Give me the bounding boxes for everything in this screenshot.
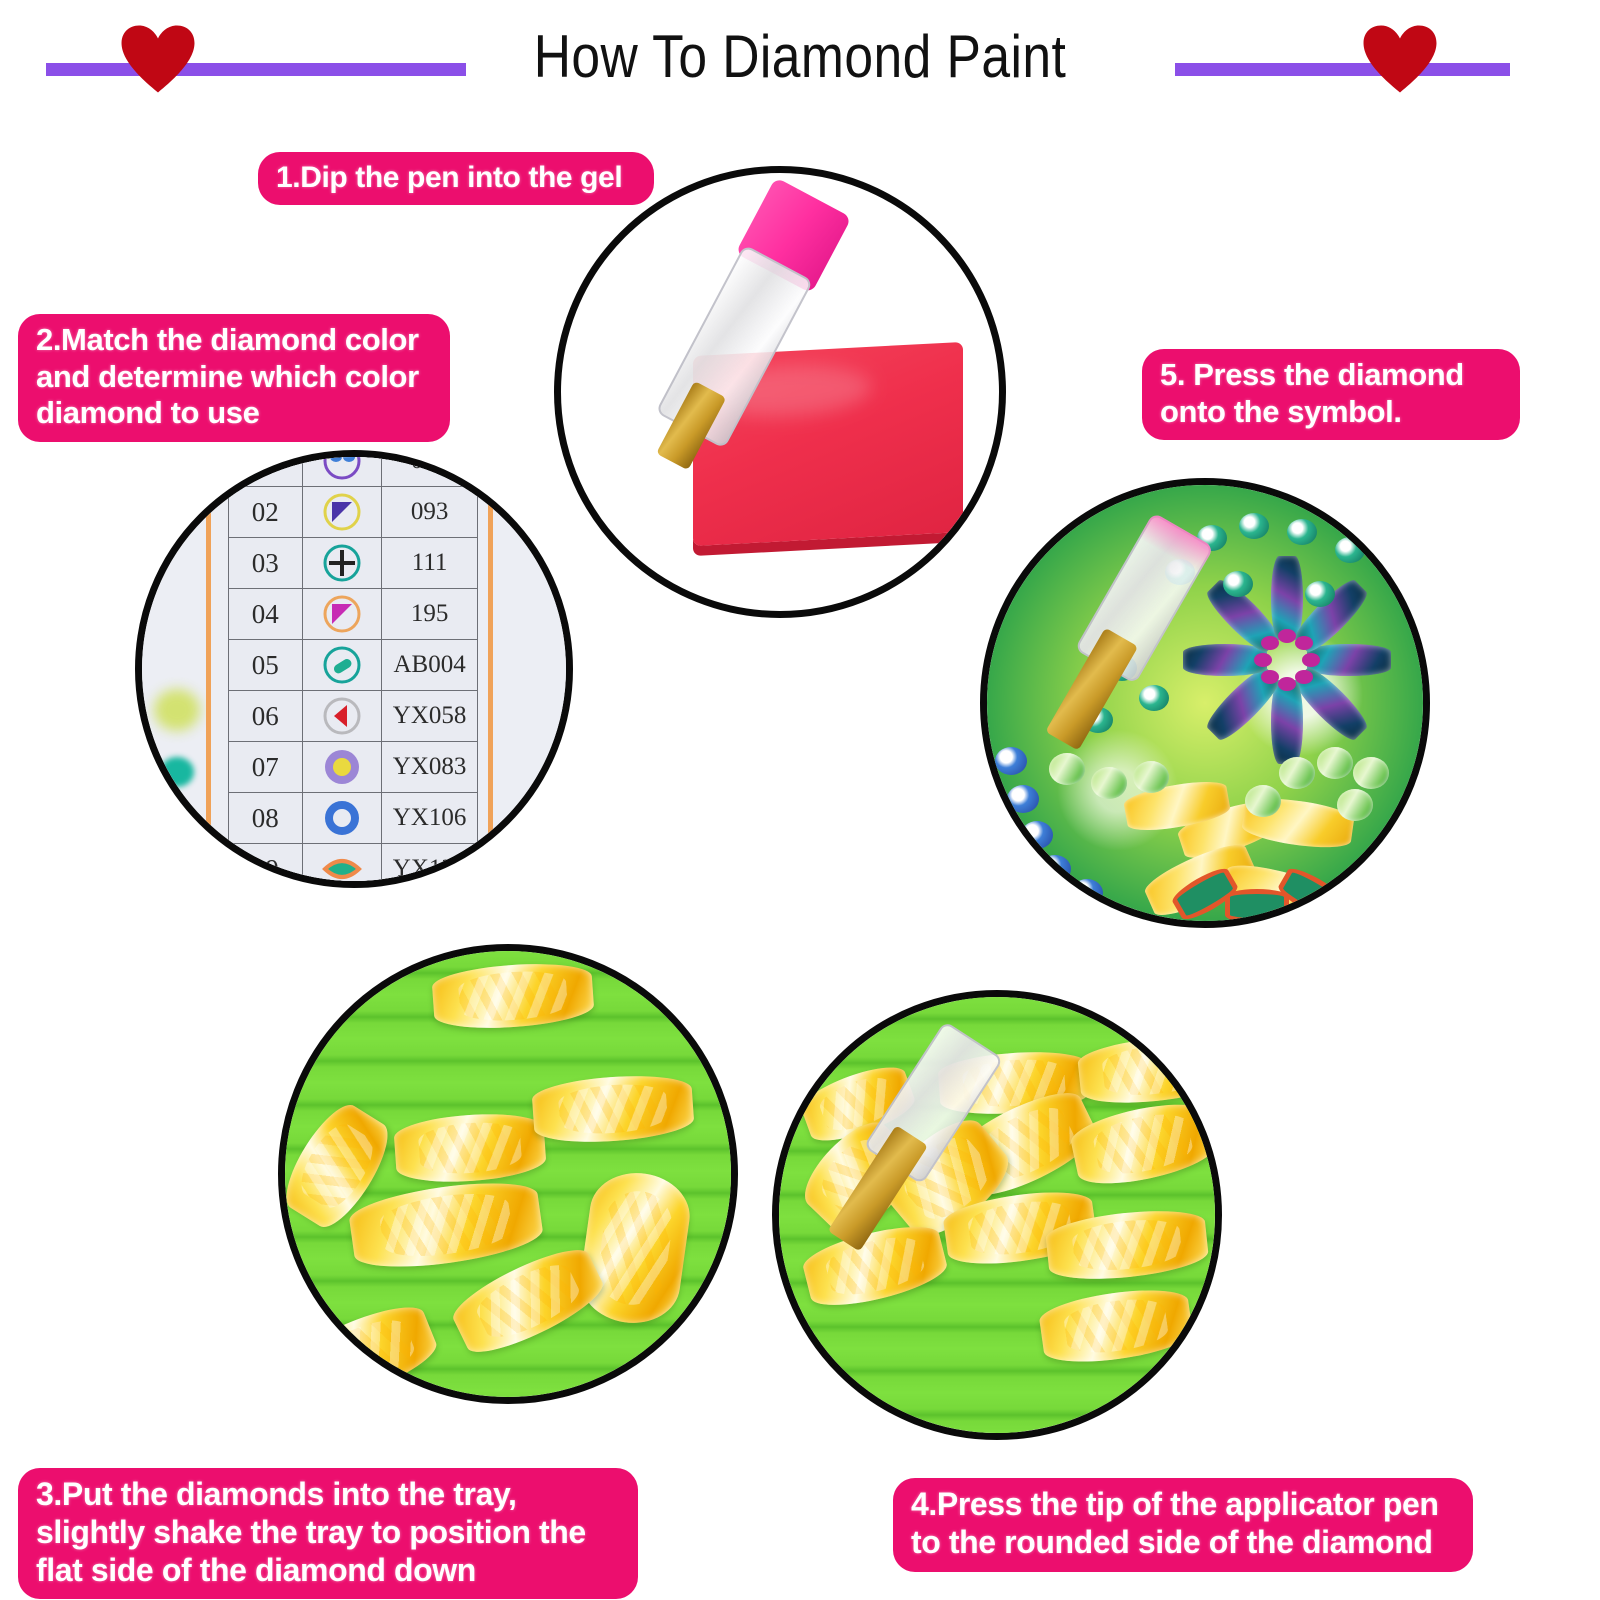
chart-cell-number: 04: [229, 589, 303, 640]
diagonal-capsule-icon: [302, 640, 382, 691]
color-chart-row: 02093: [229, 487, 478, 538]
diagonal-capsule-glyph: [322, 645, 362, 685]
chart-cell-number: 08: [229, 793, 303, 844]
plus-cross-icon: [302, 538, 382, 589]
printed-symbol-dot: [1305, 581, 1335, 607]
open-ring-icon: [302, 793, 382, 844]
chart-cell-number: 07: [229, 742, 303, 793]
rhinestone-dark: [1271, 680, 1303, 764]
chart-paper: 0102602093031110419505AB00406YX05807YX08…: [228, 450, 478, 888]
color-chart-row: 08YX106: [229, 793, 478, 844]
triangle-filled-icon: [302, 487, 382, 538]
photo-color-chart: 0102602093031110419505AB00406YX05807YX08…: [135, 450, 573, 888]
chart-cell-number: 01: [229, 450, 303, 487]
chart-cell-code: 026: [382, 450, 478, 487]
dot-in-ring-glyph: [322, 747, 362, 787]
leaf-marquise-glyph: [322, 849, 362, 888]
color-chart-row: 04195: [229, 589, 478, 640]
chart-smudge-teal: [160, 757, 194, 787]
printed-symbol-dot: [1007, 785, 1039, 813]
printed-symbol-dot: [1295, 670, 1313, 684]
rhinestone-green: [1337, 789, 1373, 821]
photo-pen-in-gel: [554, 166, 1006, 618]
triangle-filled-glyph: [322, 492, 362, 532]
printed-symbol-dot: [1261, 670, 1279, 684]
page-title: How To Diamond Paint: [112, 22, 1488, 91]
dot-in-ring-icon: [302, 742, 382, 793]
rhinestone-dark: [1271, 556, 1303, 640]
color-chart-table: 0102602093031110419505AB00406YX05807YX08…: [228, 450, 478, 888]
photo-gem-onto-canvas: [980, 478, 1430, 928]
chart-cell-code: 093: [382, 487, 478, 538]
printed-symbol-dot: [1039, 855, 1071, 883]
rhinestone-green: [1279, 757, 1315, 789]
chart-cell-code: YX058: [382, 691, 478, 742]
printed-symbol-dot: [1335, 537, 1365, 563]
chevron-left-glyph: [322, 696, 362, 736]
chart-cell-code: YX083: [382, 742, 478, 793]
chart-cell-code: AB004: [382, 640, 478, 691]
chart-cell-code: 195: [382, 589, 478, 640]
printed-symbol-dot: [1021, 821, 1053, 849]
step-3-label: 3.Put the diamonds into the tray, slight…: [18, 1468, 638, 1599]
printed-symbol-leaf: [1225, 889, 1289, 923]
chart-cell-number: 09: [229, 844, 303, 889]
chart-cell-code: 111: [382, 538, 478, 589]
open-ring-glyph: [322, 798, 362, 838]
color-chart-row: 03111: [229, 538, 478, 589]
rhinestone-green: [1245, 785, 1281, 817]
chart-cell-code: YX125: [382, 844, 478, 889]
chart-orange-strip-left: [206, 450, 211, 888]
double-dot-circle-icon: [302, 450, 382, 487]
chart-smudge-green: [154, 689, 200, 731]
step-4-label: 4.Press the tip of the applicator pen to…: [893, 1478, 1473, 1572]
plus-cross-glyph: [322, 543, 362, 583]
chart-cell-number: 02: [229, 487, 303, 538]
color-chart-row: 07YX083: [229, 742, 478, 793]
printed-symbol-dot: [1278, 677, 1296, 691]
photo-pen-picking-gem: [772, 990, 1222, 1440]
printed-symbol-dot: [1295, 636, 1313, 650]
chart-cell-number: 05: [229, 640, 303, 691]
chart-cell-number: 03: [229, 538, 303, 589]
step-5-label: 5. Press the diamond onto the symbol.: [1142, 349, 1520, 440]
leaf-marquise-icon: [302, 844, 382, 889]
printed-symbol-dot: [1261, 636, 1279, 650]
chart-cell-code: YX106: [382, 793, 478, 844]
printed-symbol-dot: [995, 747, 1027, 775]
triangle-filled-icon: [302, 589, 382, 640]
color-chart-row: 01026: [229, 450, 478, 487]
chevron-left-icon: [302, 691, 382, 742]
printed-symbol-dot: [1071, 879, 1103, 907]
printed-symbol-dot: [1302, 653, 1320, 667]
rhinestone-green: [1353, 757, 1389, 789]
printed-symbol-dot: [1278, 629, 1296, 643]
photo-diamonds-in-tray: [278, 944, 738, 1404]
rhinestone-green: [1317, 747, 1353, 779]
step-2-label: 2.Match the diamond color and determine …: [18, 314, 450, 442]
triangle-filled-glyph: [322, 594, 362, 634]
double-dot-circle-glyph: [322, 450, 362, 481]
infographic-page: How To Diamond Paint 1.Dip the pen into …: [0, 0, 1600, 1600]
chart-cell-number: 06: [229, 691, 303, 742]
chart-orange-strip-right: [488, 450, 493, 888]
color-chart-row: 09YX125: [229, 844, 478, 889]
color-chart-row: 05AB004: [229, 640, 478, 691]
color-chart-row: 06YX058: [229, 691, 478, 742]
printed-symbol-dot: [1254, 653, 1272, 667]
